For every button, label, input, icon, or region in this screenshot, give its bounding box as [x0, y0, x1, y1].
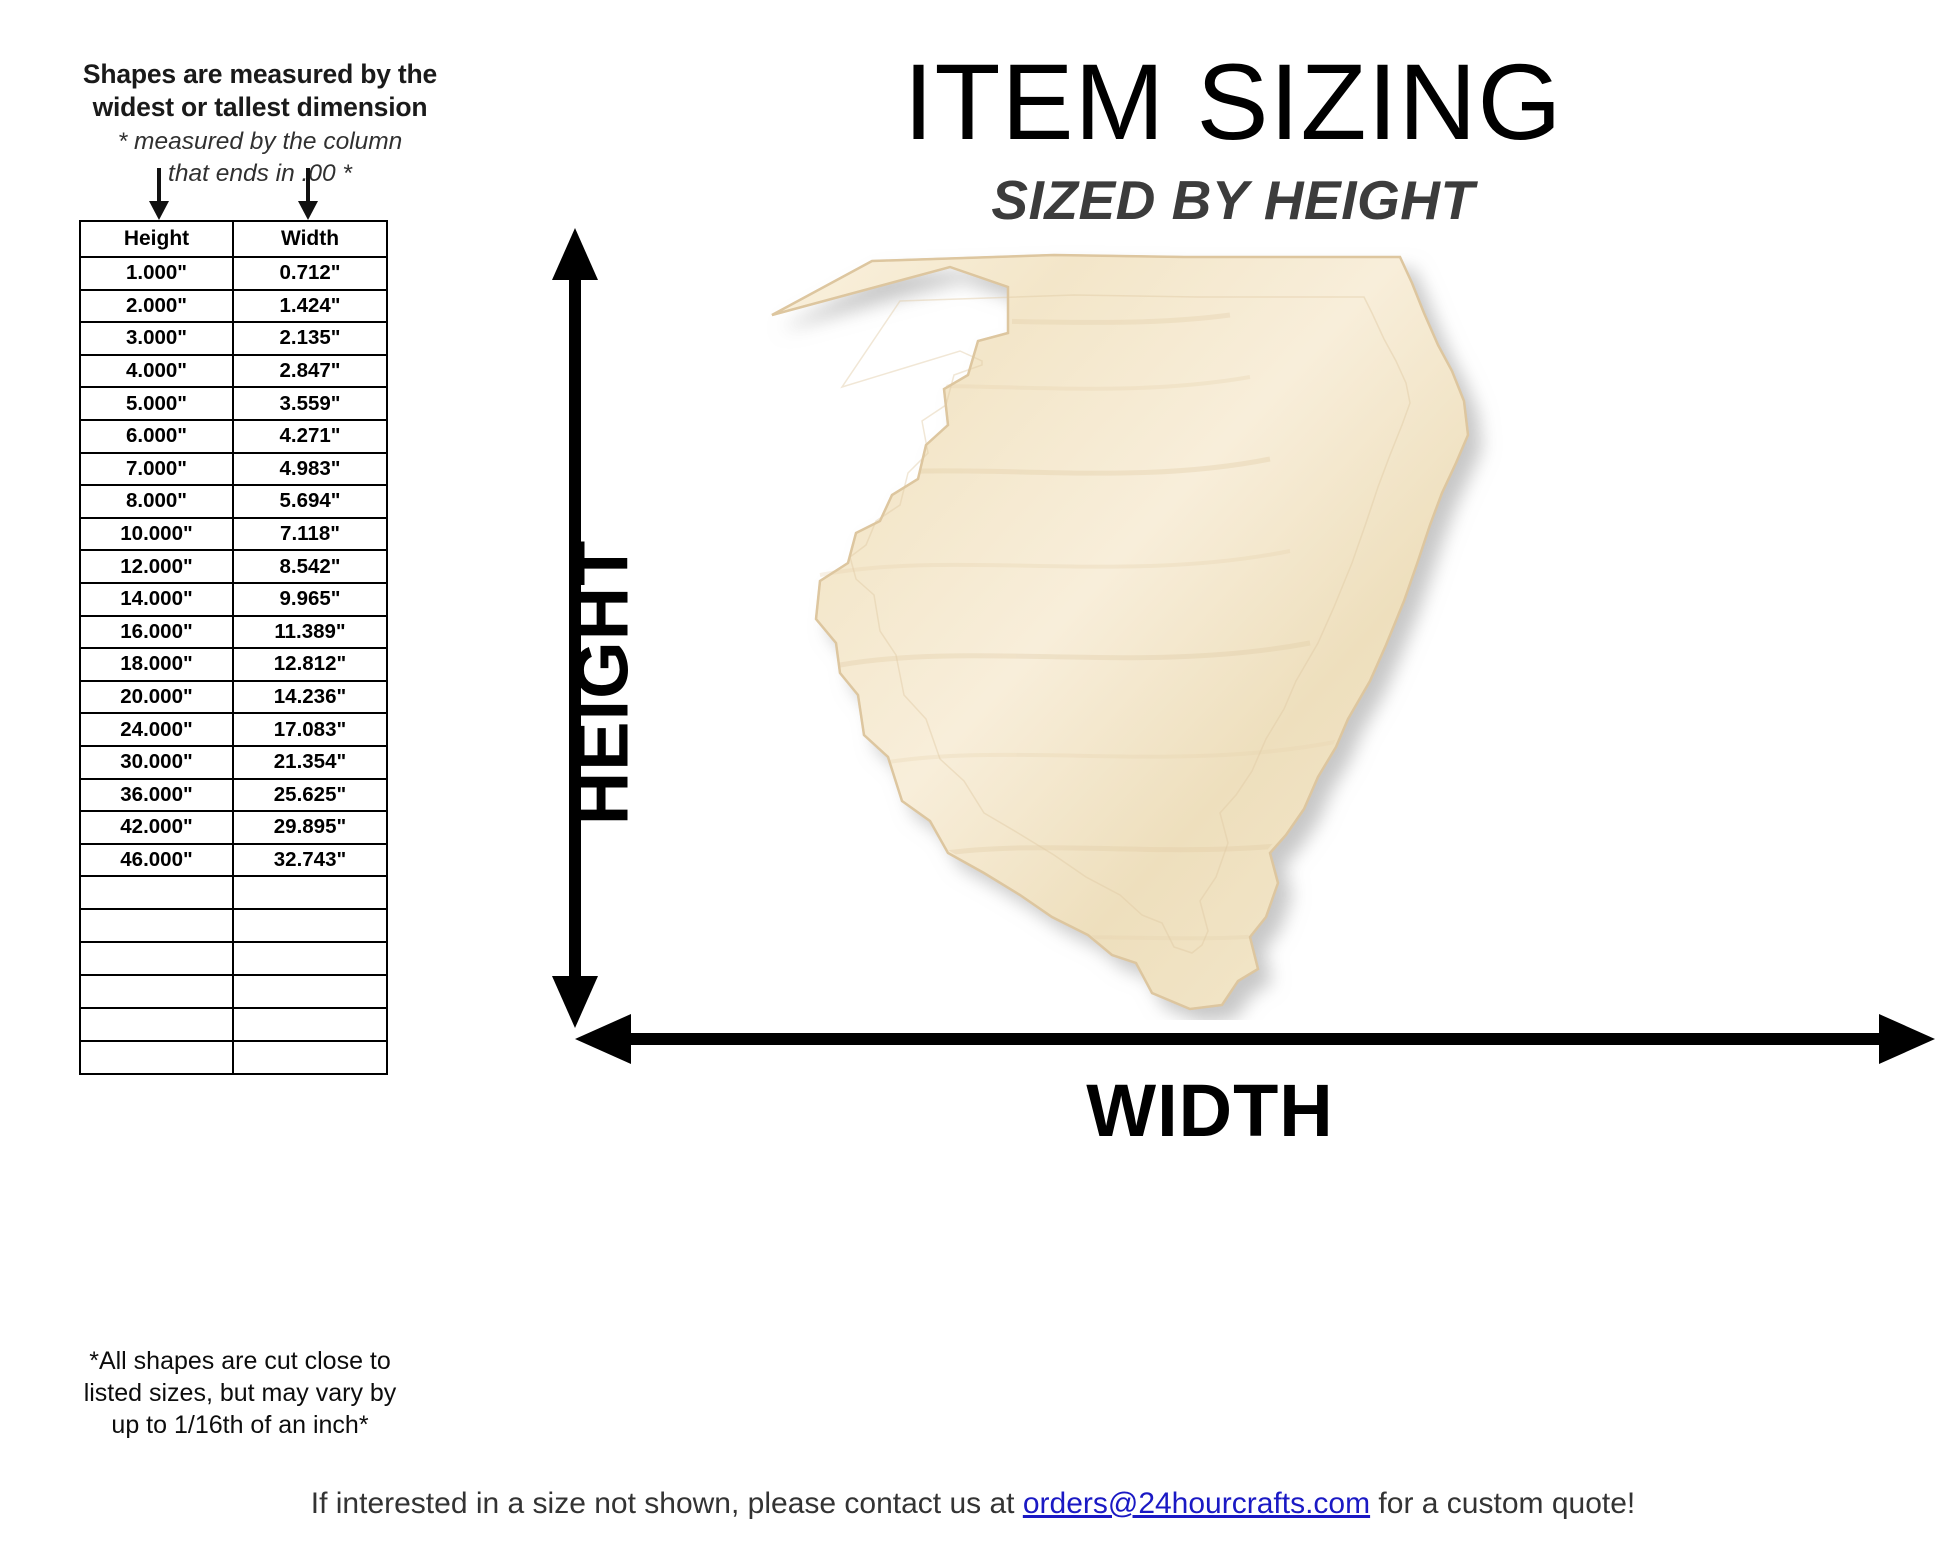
cell-width: 4.983" [233, 453, 387, 486]
cell-height-empty [80, 1008, 233, 1041]
page-subtitle: SIZED BY HEIGHT [520, 168, 1946, 232]
cell-width: 3.559" [233, 387, 387, 420]
cell-height: 36.000" [80, 779, 233, 812]
cell-width: 9.965" [233, 583, 387, 616]
cell-width: 4.271" [233, 420, 387, 453]
table-row: 30.000"21.354" [80, 746, 387, 779]
cell-width-empty [233, 1041, 387, 1074]
double-arrow-vertical-icon [550, 228, 600, 1028]
table-row: 1.000"0.712" [80, 257, 387, 290]
cell-width: 2.135" [233, 322, 387, 355]
cell-width: 29.895" [233, 811, 387, 844]
table-row: 42.000"29.895" [80, 811, 387, 844]
cut-tolerance-footnote: *All shapes are cut close to listed size… [30, 1345, 450, 1441]
cell-height: 1.000" [80, 257, 233, 290]
cell-height: 14.000" [80, 583, 233, 616]
cell-width: 7.118" [233, 518, 387, 551]
cell-height: 6.000" [80, 420, 233, 453]
size-table-body: 1.000"0.712"2.000"1.424"3.000"2.135"4.00… [80, 257, 387, 1074]
width-axis-label: WIDTH [810, 1068, 1610, 1153]
table-row: 7.000"4.983" [80, 453, 387, 486]
cell-width-empty [233, 1008, 387, 1041]
size-table: Height Width 1.000"0.712"2.000"1.424"3.0… [79, 220, 388, 1075]
contact-footer: If interested in a size not shown, pleas… [0, 1487, 1946, 1521]
table-row: 20.000"14.236" [80, 681, 387, 714]
cell-width: 8.542" [233, 550, 387, 583]
cell-width: 11.389" [233, 616, 387, 649]
california-state-wood-cutout [750, 245, 1540, 1020]
contact-text-before: If interested in a size not shown, pleas… [311, 1487, 1023, 1520]
cell-height: 20.000" [80, 681, 233, 714]
table-row: 10.000"7.118" [80, 518, 387, 551]
cell-width-empty [233, 909, 387, 942]
cell-height: 12.000" [80, 550, 233, 583]
column-pointer-arrows [80, 168, 480, 220]
cell-width: 1.424" [233, 290, 387, 323]
cell-height-empty [80, 942, 233, 975]
cell-height-empty [80, 876, 233, 909]
heading-note-line-1: * measured by the column [40, 127, 480, 157]
cell-height: 18.000" [80, 648, 233, 681]
cell-height: 46.000" [80, 844, 233, 877]
cell-height: 10.000" [80, 518, 233, 551]
cell-height: 16.000" [80, 616, 233, 649]
table-row: 12.000"8.542" [80, 550, 387, 583]
table-header-row: Height Width [80, 221, 387, 257]
cell-width: 0.712" [233, 257, 387, 290]
table-row: 5.000"3.559" [80, 387, 387, 420]
cell-height: 5.000" [80, 387, 233, 420]
table-row: 18.000"12.812" [80, 648, 387, 681]
cell-height: 7.000" [80, 453, 233, 486]
cell-width: 14.236" [233, 681, 387, 714]
cell-height: 42.000" [80, 811, 233, 844]
table-row: 6.000"4.271" [80, 420, 387, 453]
contact-text-after: for a custom quote! [1370, 1487, 1635, 1520]
column-header-width: Width [233, 221, 387, 257]
footnote-line-3: up to 1/16th of an inch* [30, 1409, 450, 1441]
cell-width: 21.354" [233, 746, 387, 779]
table-row: 14.000"9.965" [80, 583, 387, 616]
table-row: 8.000"5.694" [80, 485, 387, 518]
cell-height: 8.000" [80, 485, 233, 518]
cell-width: 17.083" [233, 713, 387, 746]
table-row: 36.000"25.625" [80, 779, 387, 812]
table-row-empty [80, 876, 387, 909]
double-arrow-horizontal-icon [575, 1012, 1935, 1066]
cell-width: 5.694" [233, 485, 387, 518]
table-row: 16.000"11.389" [80, 616, 387, 649]
footnote-line-2: listed sizes, but may vary by [30, 1377, 450, 1409]
cell-height: 2.000" [80, 290, 233, 323]
cell-height: 24.000" [80, 713, 233, 746]
arrow-down-icon-width [295, 168, 321, 220]
page-title: ITEM SIZING [520, 48, 1946, 156]
footnote-line-1: *All shapes are cut close to [30, 1345, 450, 1377]
cell-width-empty [233, 975, 387, 1008]
contact-email-link[interactable]: orders@24hourcrafts.com [1023, 1487, 1370, 1520]
cell-height: 3.000" [80, 322, 233, 355]
cell-width: 12.812" [233, 648, 387, 681]
heading-line-2: widest or tallest dimension [40, 91, 480, 124]
table-row: 46.000"32.743" [80, 844, 387, 877]
table-row: 4.000"2.847" [80, 355, 387, 388]
cell-height-empty [80, 975, 233, 1008]
table-row: 24.000"17.083" [80, 713, 387, 746]
cell-height-empty [80, 909, 233, 942]
heading-line-1: Shapes are measured by the [40, 58, 480, 91]
table-row-empty [80, 975, 387, 1008]
cell-height: 4.000" [80, 355, 233, 388]
cell-width: 2.847" [233, 355, 387, 388]
table-row-empty [80, 909, 387, 942]
cell-width-empty [233, 876, 387, 909]
cell-height-empty [80, 1041, 233, 1074]
table-row-empty [80, 1008, 387, 1041]
cell-width: 25.625" [233, 779, 387, 812]
right-panel: ITEM SIZING SIZED BY HEIGHT HEIGHT WIDTH [520, 0, 1946, 1557]
table-row: 2.000"1.424" [80, 290, 387, 323]
arrow-down-icon-height [146, 168, 172, 220]
table-row-empty [80, 942, 387, 975]
cell-width: 32.743" [233, 844, 387, 877]
table-row: 3.000"2.135" [80, 322, 387, 355]
table-row-empty [80, 1041, 387, 1074]
left-panel: Shapes are measured by the widest or tal… [0, 0, 520, 1557]
cell-height: 30.000" [80, 746, 233, 779]
column-header-height: Height [80, 221, 233, 257]
cell-width-empty [233, 942, 387, 975]
